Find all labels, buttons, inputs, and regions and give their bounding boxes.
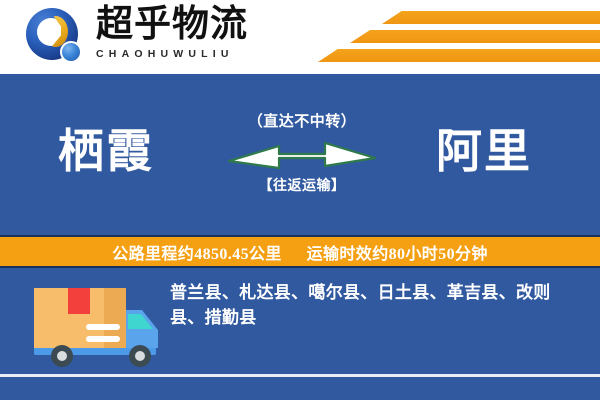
brand-name-pinyin: CHAOHUWULIU [96,48,276,60]
double-headed-arrow-icon [227,137,377,171]
info-bar: 公路里程约4850.45公里 运输时效约80小时50分钟 [0,235,600,268]
direct-service-note: （直达不中转） [216,110,388,131]
circle-crescent-logo-icon [26,8,86,66]
bottom-divider [0,374,600,377]
brand-block: 超乎物流 CHAOHUWULIU [96,4,276,60]
delivery-truck-icon [28,280,168,372]
stripe-middle [350,30,600,43]
logo-small-dot [60,41,82,63]
logistics-banner: 超乎物流 CHAOHUWULIU 栖霞 （直达不中转） 【往返运输】 阿里 公路… [0,0,600,400]
arrow-svg [227,137,377,171]
coverage-area-list: 普兰县、札达县、噶尔县、日土县、革吉县、改则县、措勤县 [170,280,582,330]
duration-text: 运输时效约80小时50分钟 [307,246,488,263]
origin-city: 栖霞 [58,126,154,178]
route-middle-block: （直达不中转） 【往返运输】 [216,110,388,195]
distance-text: 公路里程约4850.45公里 [112,246,282,263]
truck-svg [28,280,168,372]
destination-city: 阿里 [436,126,532,178]
brand-name-cn: 超乎物流 [96,4,276,46]
info-bar-text: 公路里程约4850.45公里 运输时效约80小时50分钟 [112,240,488,264]
banner-header: 超乎物流 CHAOHUWULIU [0,0,600,72]
coverage-panel: 普兰县、札达县、噶尔县、日土县、革吉县、改则县、措勤县 [0,268,600,400]
stripe-top [382,11,600,24]
stripe-bottom [318,49,600,62]
route-panel: 栖霞 （直达不中转） 【往返运输】 阿里 [0,72,600,235]
orange-speed-stripes-icon [280,8,600,68]
round-trip-note: 【往返运输】 [216,175,388,195]
